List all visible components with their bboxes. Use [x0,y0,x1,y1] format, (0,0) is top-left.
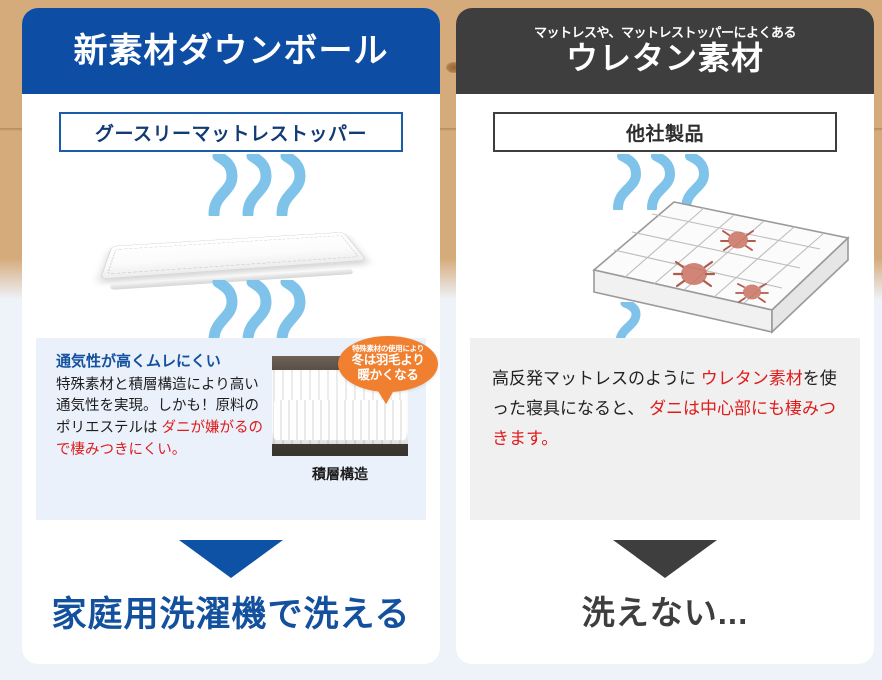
product-label-left: グースリーマットレストッパー [59,112,403,152]
bubble-line-1: 冬は羽毛より [352,353,425,368]
bubble-tail [377,387,398,405]
airflow-arrow-up-icon [202,154,322,216]
illustration-topper [22,152,440,342]
panel-title-right: ウレタン素材 [566,42,764,76]
product-label-right: 他社製品 [493,112,837,152]
photo-fiber-layer [274,400,406,440]
description-lead-left: 通気性が高くムレにくい [56,352,268,372]
description-copy-right: 高反発マットレスのように ウレタン素材を使った寝具になると、 ダニは中心部にも棲… [492,364,840,453]
description-segment-black: 高反発マットレスのように [492,369,696,388]
panel-title-left: 新素材ダウンボール [74,33,389,69]
down-arrow-icon-right [613,540,717,578]
panel-header-right: マットレスや、マットレストッパーによくある ウレタン素材 [456,8,874,94]
panel-subtitle-right: マットレスや、マットレストッパーによくある [534,26,796,40]
warmth-callout-bubble: 特殊素材の使用により 冬は羽毛より 暖かくなる [338,336,438,392]
comparison-panel-own-product: 新素材ダウンボール グースリーマットレストッパー 通気性が高くムレにくい 特殊素… [22,8,440,664]
down-arrow-icon-left [179,540,283,578]
conclusion-right: 洗えない... [456,586,874,634]
conclusion-left: 家庭用洗濯機で洗える [22,586,440,637]
description-segment-red: ウレタン素材 [701,369,803,388]
description-body-left: 特殊素材と積層構造により高い通気性を実現。しかも！原料のポリエステルは ダニが嫌… [56,375,268,462]
comparison-panel-competitor: マットレスや、マットレストッパーによくある ウレタン素材 他社製品 [456,8,874,664]
description-copy-left: 通気性が高くムレにくい 特殊素材と積層構造により高い通気性を実現。しかも！原料の… [56,352,268,462]
bubble-line-2: 暖かくなる [357,368,418,383]
panel-header-left: 新素材ダウンボール [22,8,440,94]
illustration-urethane-mattress [456,152,874,342]
description-box-right: 高反発マットレスのように ウレタン素材を使った寝具になると、 ダニは中心部にも棲… [470,338,860,520]
airflow-arrow-down-icon [202,280,322,342]
photo-caption: 積層構造 [272,464,408,484]
